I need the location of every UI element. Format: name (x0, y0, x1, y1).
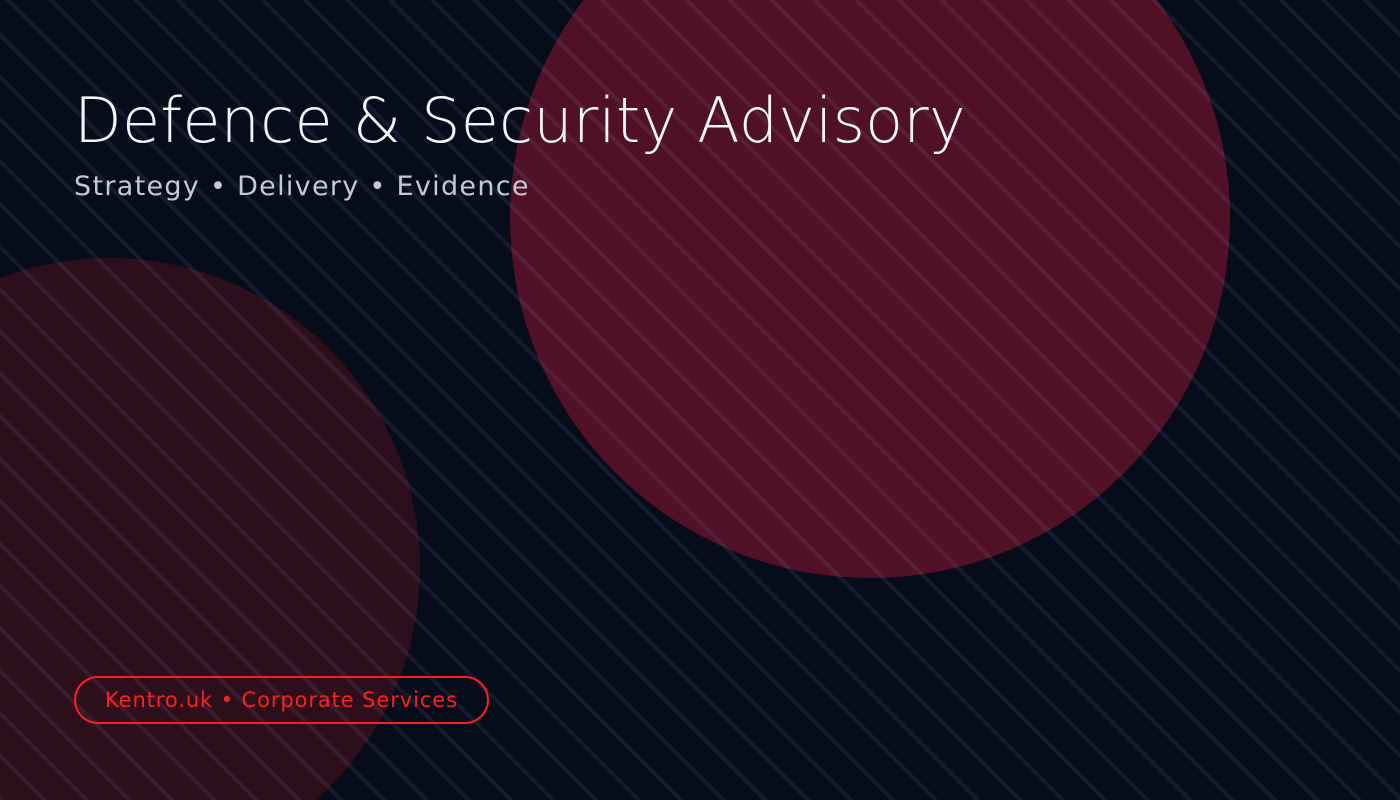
page-title: Defence & Security Advisory (74, 88, 966, 155)
poster-content: Defence & Security Advisory Strategy • D… (0, 0, 1400, 800)
status-badge-label: Kentro.uk • Corporate Services (105, 688, 458, 712)
page-subtitle: Strategy • Delivery • Evidence (74, 171, 530, 203)
status-badge[interactable]: Kentro.uk • Corporate Services (74, 676, 489, 724)
hero-poster: Defence & Security Advisory Strategy • D… (0, 0, 1400, 800)
